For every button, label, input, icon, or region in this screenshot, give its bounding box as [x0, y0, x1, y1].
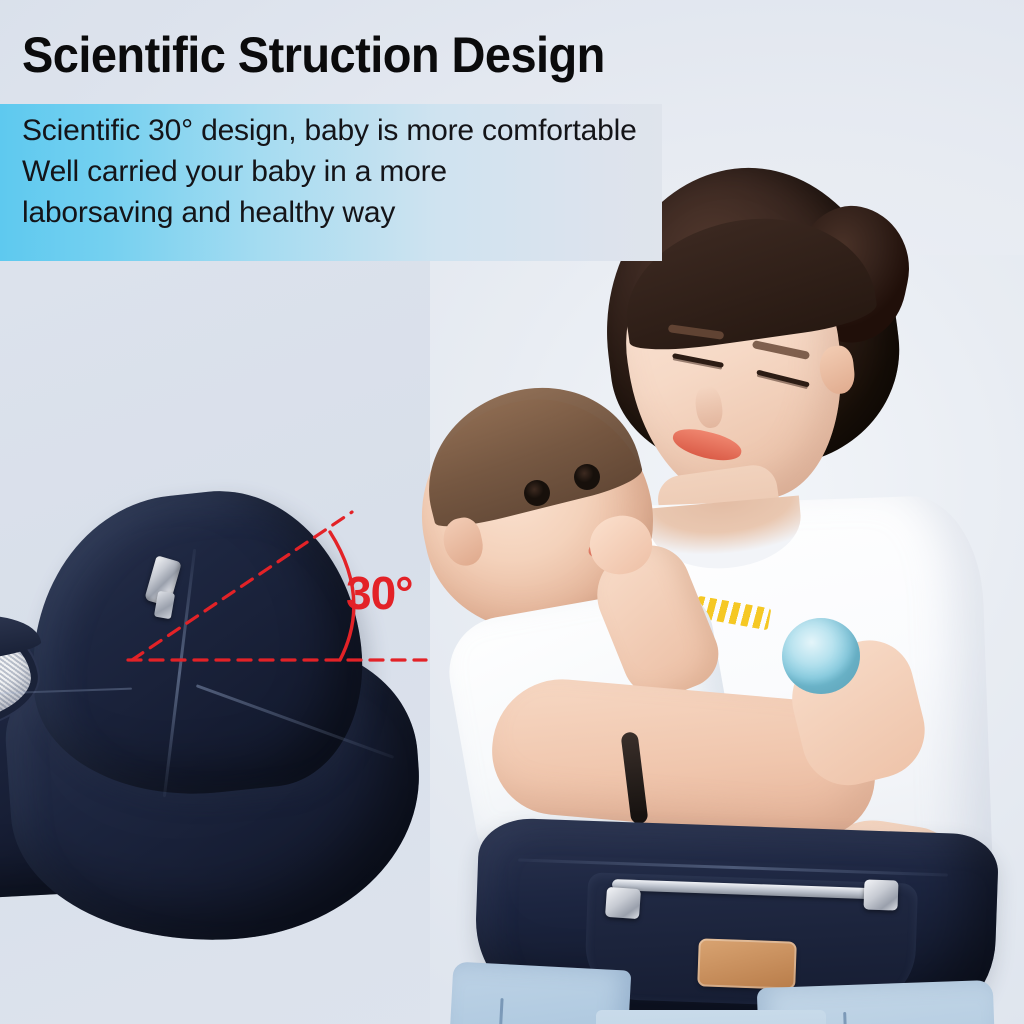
leather-brand-tag: [697, 938, 797, 989]
subtitle-line-1: Scientific 30° design, baby is more comf…: [22, 110, 722, 151]
subtitle-line-3: laborsaving and healthy way: [22, 192, 722, 233]
toy-ball: [782, 618, 860, 694]
mother-and-baby-scene: [400, 150, 1024, 1024]
product-marketing-image: 30°: [0, 0, 1024, 1024]
zipper-pull-icon: [863, 879, 898, 910]
zipper-pull-icon: [605, 887, 641, 919]
subtitle-block: Scientific 30° design, baby is more comf…: [22, 110, 722, 233]
jeans-front: [596, 1010, 826, 1024]
subtitle-line-2: Well carried your baby in a more: [22, 151, 722, 192]
page-title: Scientific Struction Design: [22, 26, 605, 84]
baby-eye: [524, 480, 550, 506]
baby-eye: [574, 464, 600, 490]
